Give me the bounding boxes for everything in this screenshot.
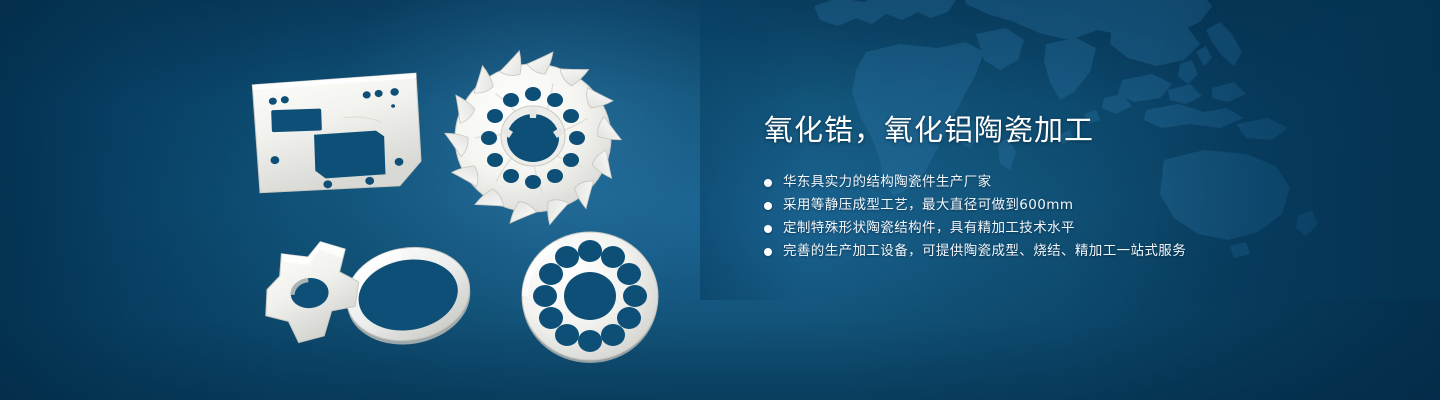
page-title: 氧化锆，氧化铝陶瓷加工: [764, 110, 1364, 150]
product-ceramic-plate: [248, 72, 424, 194]
list-item-label: 华东具实力的结构陶瓷件生产厂家: [783, 172, 992, 193]
product-ceramic-ring-plate: [516, 226, 666, 368]
bullet-dot-icon: [764, 248, 772, 256]
list-item-label: 采用等静压成型工艺，最大直径可做到600mm: [783, 195, 1073, 216]
product-ceramic-cross-part: [248, 222, 498, 370]
promo-banner: 氧化锆，氧化铝陶瓷加工 华东具实力的结构陶瓷件生产厂家 采用等静压成型工艺，最大…: [0, 0, 1440, 400]
list-item-label: 完善的生产加工设备，可提供陶瓷成型、烧结、精加工一站式服务: [783, 241, 1186, 262]
bullet-dot-icon: [764, 202, 772, 210]
list-item: 华东具实力的结构陶瓷件生产厂家: [764, 172, 1364, 193]
bullet-dot-icon: [764, 179, 772, 187]
product-ceramic-impeller: [444, 52, 622, 230]
list-item: 完善的生产加工设备，可提供陶瓷成型、烧结、精加工一站式服务: [764, 241, 1364, 262]
list-item: 定制特殊形状陶瓷结构件，具有精加工技术水平: [764, 218, 1364, 239]
bullet-dot-icon: [764, 225, 772, 233]
list-item: 采用等静压成型工艺，最大直径可做到600mm: [764, 195, 1364, 216]
product-image-group: [0, 0, 720, 400]
list-item-label: 定制特殊形状陶瓷结构件，具有精加工技术水平: [783, 218, 1075, 239]
feature-list: 华东具实力的结构陶瓷件生产厂家 采用等静压成型工艺，最大直径可做到600mm 定…: [764, 172, 1364, 262]
banner-content: 氧化锆，氧化铝陶瓷加工 华东具实力的结构陶瓷件生产厂家 采用等静压成型工艺，最大…: [764, 110, 1364, 264]
